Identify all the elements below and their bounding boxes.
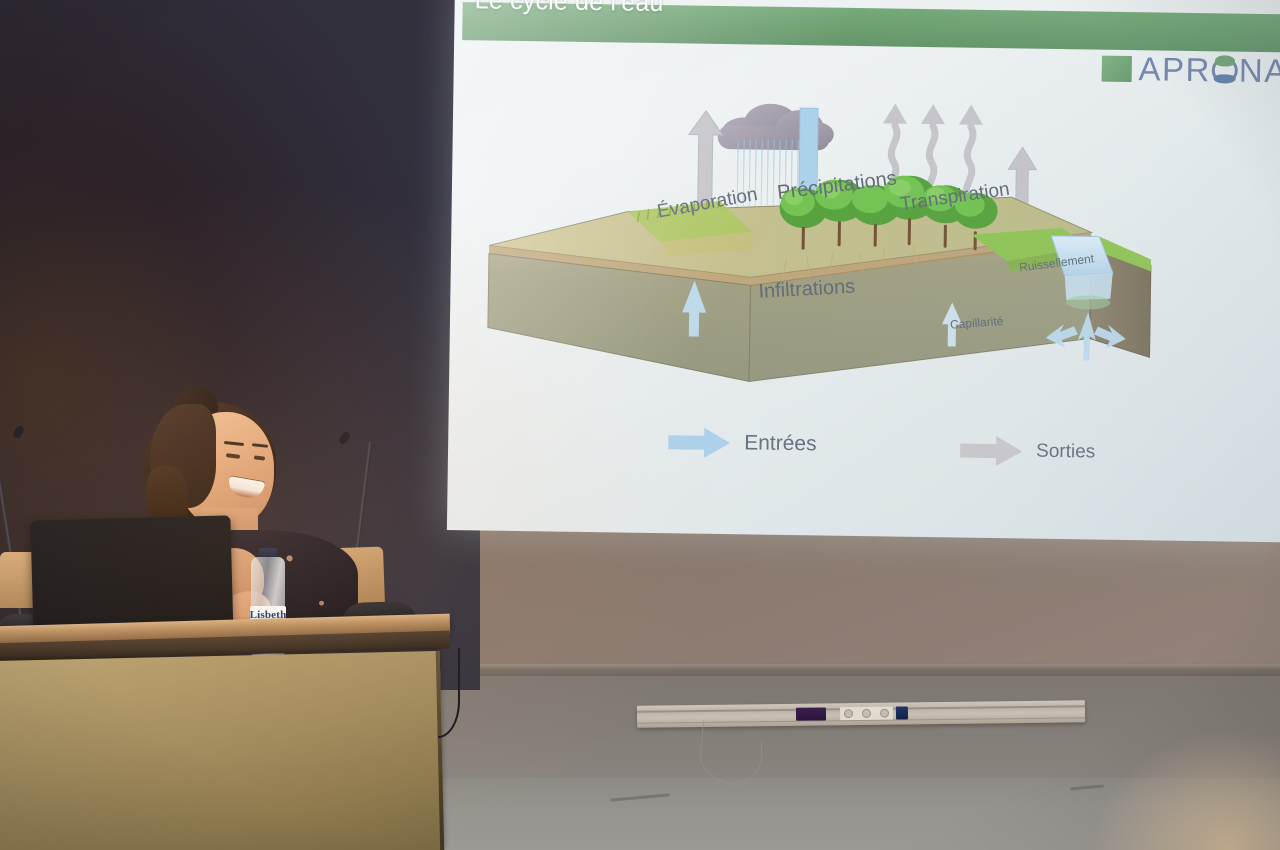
slide-title: Le cycle de l'eau — [475, 0, 664, 18]
projection-screen: Le cycle de l'eau APR NA — [447, 0, 1280, 542]
conference-room-scene: Le cycle de l'eau APR NA — [0, 0, 1280, 850]
logo-green-square — [1101, 55, 1131, 81]
slide-legend: Entrées Sorties — [448, 420, 1280, 484]
floor — [430, 778, 1280, 850]
legend-item-outflow: Sorties — [960, 436, 1096, 468]
logo-text-after: NA — [1239, 54, 1280, 88]
wall-lower — [440, 676, 1280, 780]
logo-text-before: APR — [1138, 52, 1211, 86]
podium-panel — [0, 651, 444, 850]
wall-trim-rail — [440, 664, 1280, 676]
water-cycle-diagram: Évaporation Précipitations Transpiration… — [449, 77, 1280, 419]
trunking-blue-panel — [896, 706, 908, 719]
logo-globe-icon — [1212, 57, 1238, 83]
soil-block-illustration — [449, 77, 1280, 419]
floor-scuff — [1070, 785, 1104, 791]
legend-label-outflow: Sorties — [1036, 441, 1095, 464]
floor-scuff — [610, 793, 670, 801]
trunking-socket-group[interactable] — [840, 707, 893, 721]
presenter-and-desk: Lisbeth EAU MINÉRALE — [0, 380, 470, 850]
power-socket[interactable] — [862, 709, 871, 718]
logo-wordmark: APR NA — [1138, 52, 1280, 87]
inflow-arrow-icon — [668, 427, 730, 458]
power-socket[interactable] — [844, 709, 853, 718]
podium-cable — [438, 648, 460, 738]
trunking-purple-panel — [796, 707, 826, 720]
legend-item-inflow: Entrées — [668, 427, 817, 459]
outflow-arrow-icon — [960, 436, 1022, 467]
legend-label-inflow: Entrées — [744, 431, 817, 456]
aprona-logo: APR NA — [1101, 52, 1280, 88]
microphone-head — [12, 424, 25, 439]
power-socket[interactable] — [880, 709, 889, 718]
